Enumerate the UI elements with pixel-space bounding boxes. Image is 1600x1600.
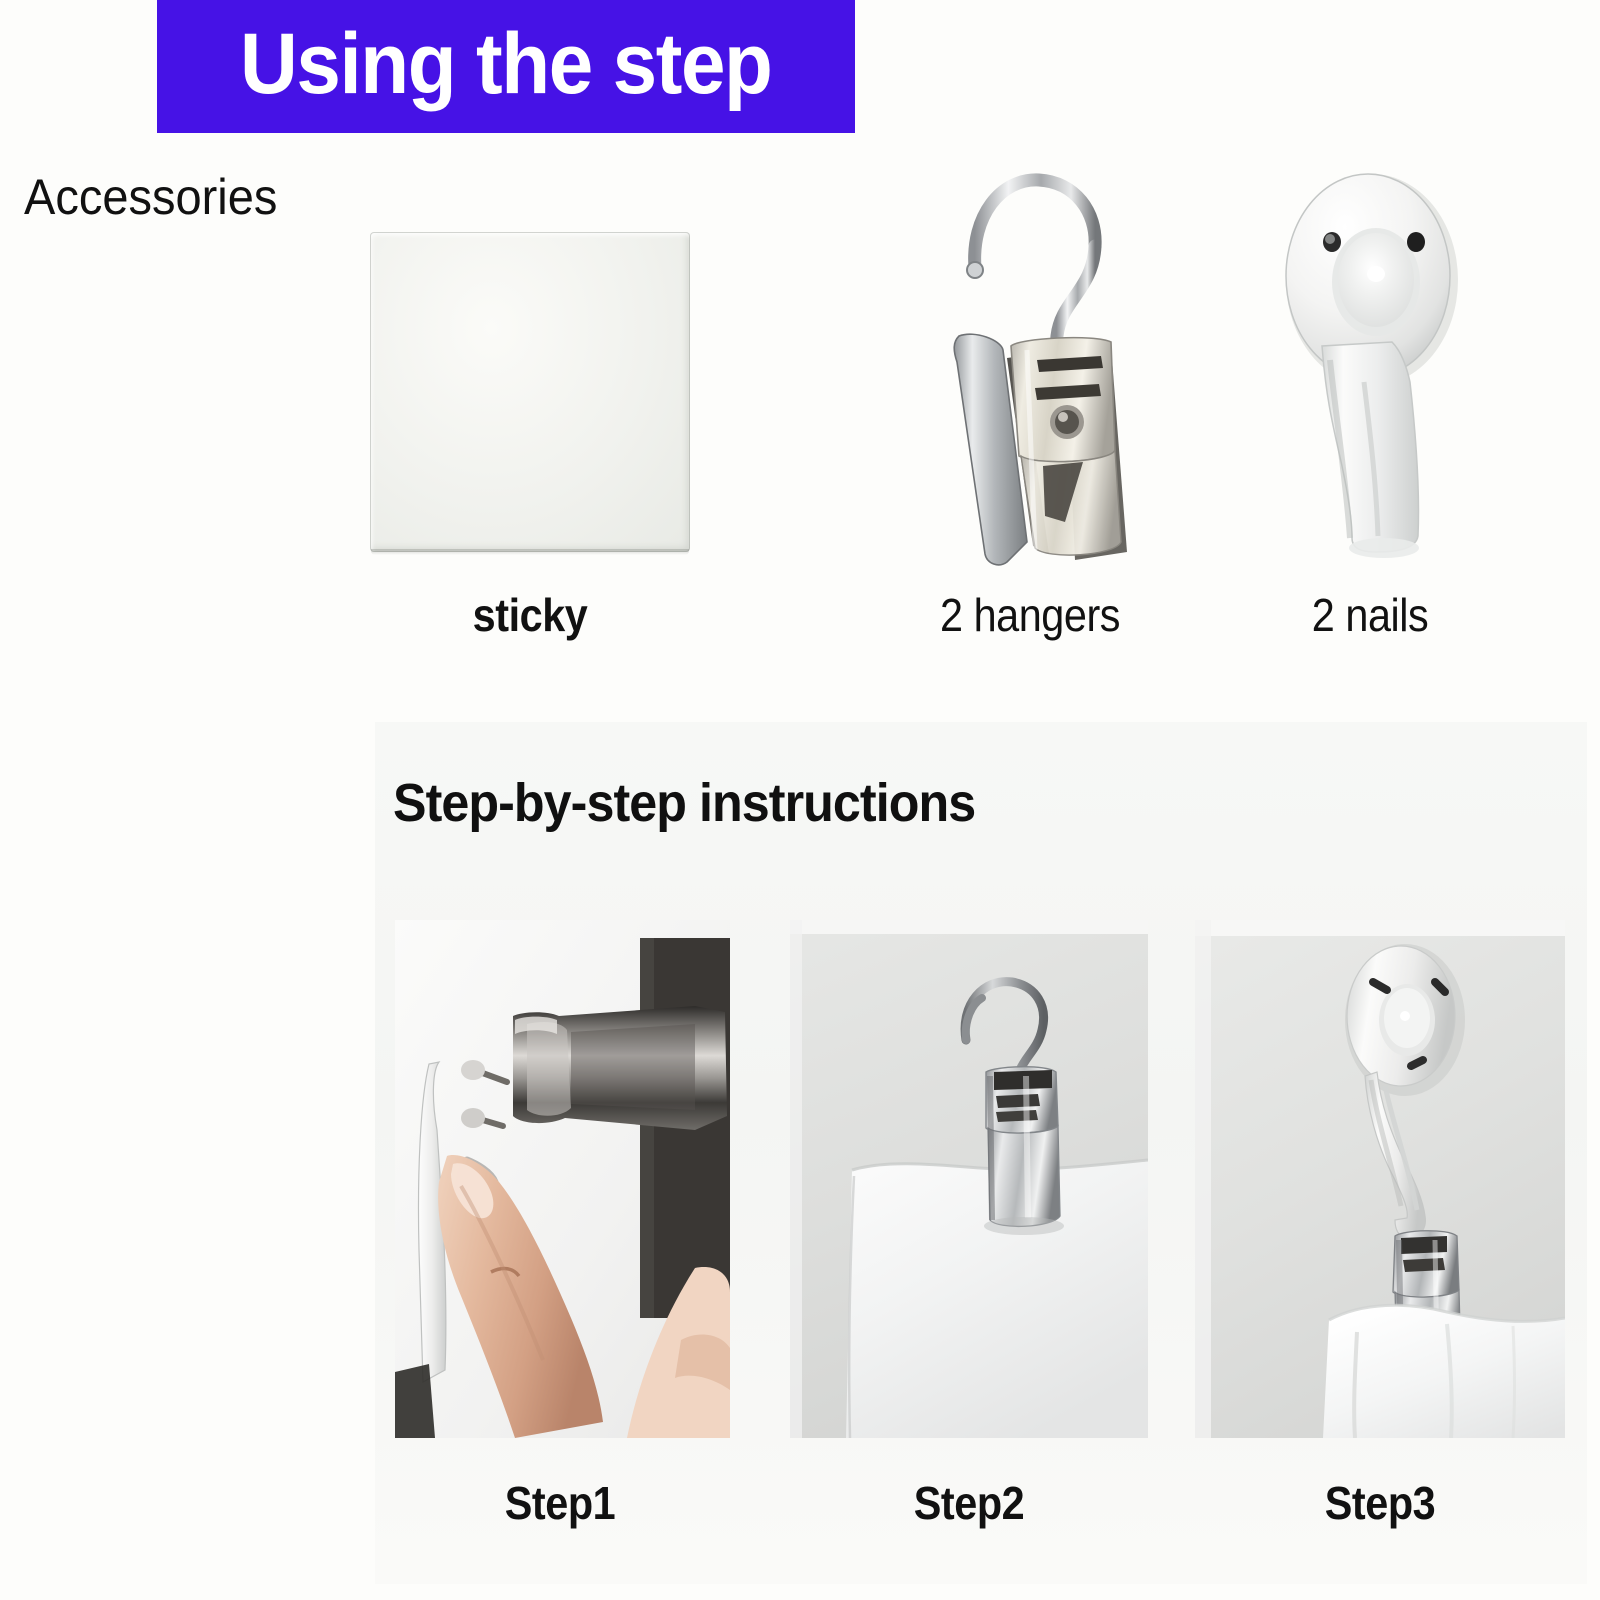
- hook-with-clip-mounted-photo: [1195, 920, 1565, 1438]
- clip-holding-fabric-photo: [790, 920, 1148, 1438]
- step-photo-2: [790, 920, 1148, 1438]
- white-wall-hook-icon: [1260, 150, 1480, 570]
- steps-heading: Step-by-step instructions: [393, 772, 975, 834]
- accessory-item-hangers: 2 hangers: [880, 150, 1180, 670]
- hammering-nails-into-hook-photo: [395, 920, 730, 1438]
- adhesive-sticky-pad-icon: [370, 232, 690, 552]
- accessory-art-sticky: [330, 150, 730, 580]
- accessory-label-nails: 2 nails: [1244, 588, 1496, 642]
- step-item-1: Step1: [395, 920, 740, 1580]
- step-item-3: Step3: [1195, 920, 1540, 1580]
- accessory-item-nails: 2 nails: [1230, 150, 1510, 670]
- accessory-label-hangers: 2 hangers: [895, 588, 1165, 642]
- step-item-2: Step2: [790, 920, 1135, 1580]
- step-photo-1: [395, 920, 730, 1438]
- step-label-3: Step3: [1214, 1476, 1547, 1530]
- accessory-art-hangers: [880, 150, 1180, 580]
- accessory-label-sticky: sticky: [350, 588, 710, 642]
- page-title: Using the step: [240, 21, 772, 113]
- steps-row: Step1: [375, 920, 1587, 1580]
- accessories-row: sticky: [0, 150, 1600, 670]
- accessory-item-sticky: sticky: [330, 150, 730, 670]
- step-by-step-panel: Step-by-step instructions: [375, 722, 1587, 1584]
- accessory-art-nails: [1230, 150, 1510, 580]
- metal-clip-hanger-icon: [915, 150, 1145, 570]
- step-photo-3: [1195, 920, 1565, 1438]
- step-label-2: Step2: [808, 1476, 1130, 1530]
- title-banner: Using the step: [157, 0, 855, 133]
- step-label-1: Step1: [412, 1476, 709, 1530]
